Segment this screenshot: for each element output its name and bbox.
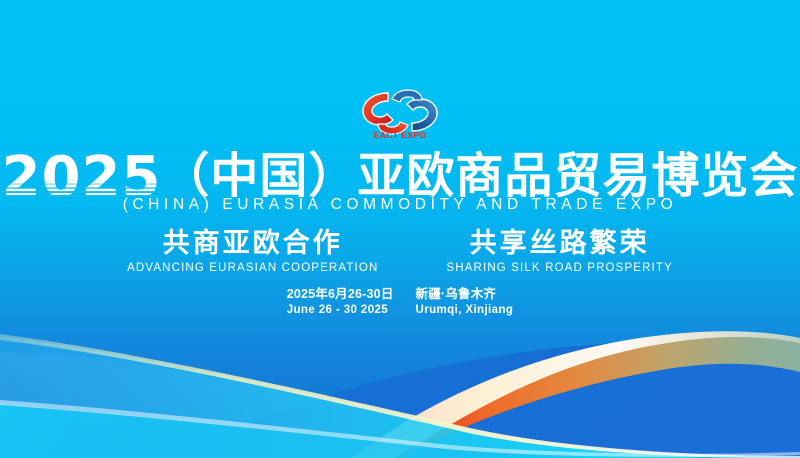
event-date-chinese: 2025年6月26-30日 [287,286,394,303]
slogan-chinese: 共享丝路繁荣 [446,228,672,259]
eact-expo-logo: EACT EXPO [354,84,446,140]
event-info: 2025年6月26-30日 June 26 - 30 2025 新疆·乌鲁木齐 … [0,286,800,318]
logo-red-swoosh [363,93,393,125]
event-place-chinese: 新疆·乌鲁木齐 [416,286,514,303]
title-chinese: （中国）亚欧商品贸易博览会 [161,153,798,201]
slogan-english: SHARING SILK ROAD PROSPERITY [446,262,672,274]
slogan-group: 共商亚欧合作 ADVANCING EURASIAN COOPERATION 共享… [0,228,800,274]
event-date-english: June 26 - 30 2025 [287,303,394,319]
logo-container: EACT EXPO [0,84,800,140]
slogan-english: ADVANCING EURASIAN COOPERATION [127,262,378,274]
logo-wordmark: EACT EXPO [374,130,427,140]
event-date: 2025年6月26-30日 June 26 - 30 2025 [287,286,394,318]
logo-blue-tail [392,90,422,102]
slogan-item: 共享丝路繁荣 SHARING SILK ROAD PROSPERITY [446,228,672,274]
event-place-english: Urumqi, Xinjiang [416,303,514,319]
logo-blue-swoosh [407,99,437,131]
slogan-chinese: 共商亚欧合作 [127,228,378,259]
expo-banner: EACT EXPO 2025（中国）亚欧商品贸易博览会 (CHINA) EURA… [0,0,800,458]
event-place: 新疆·乌鲁木齐 Urumqi, Xinjiang [416,286,514,318]
title-english: (CHINA) EURASIA COMMODITY AND TRADE EXPO [0,196,800,214]
slogan-item: 共商亚欧合作 ADVANCING EURASIAN COOPERATION [127,228,378,274]
